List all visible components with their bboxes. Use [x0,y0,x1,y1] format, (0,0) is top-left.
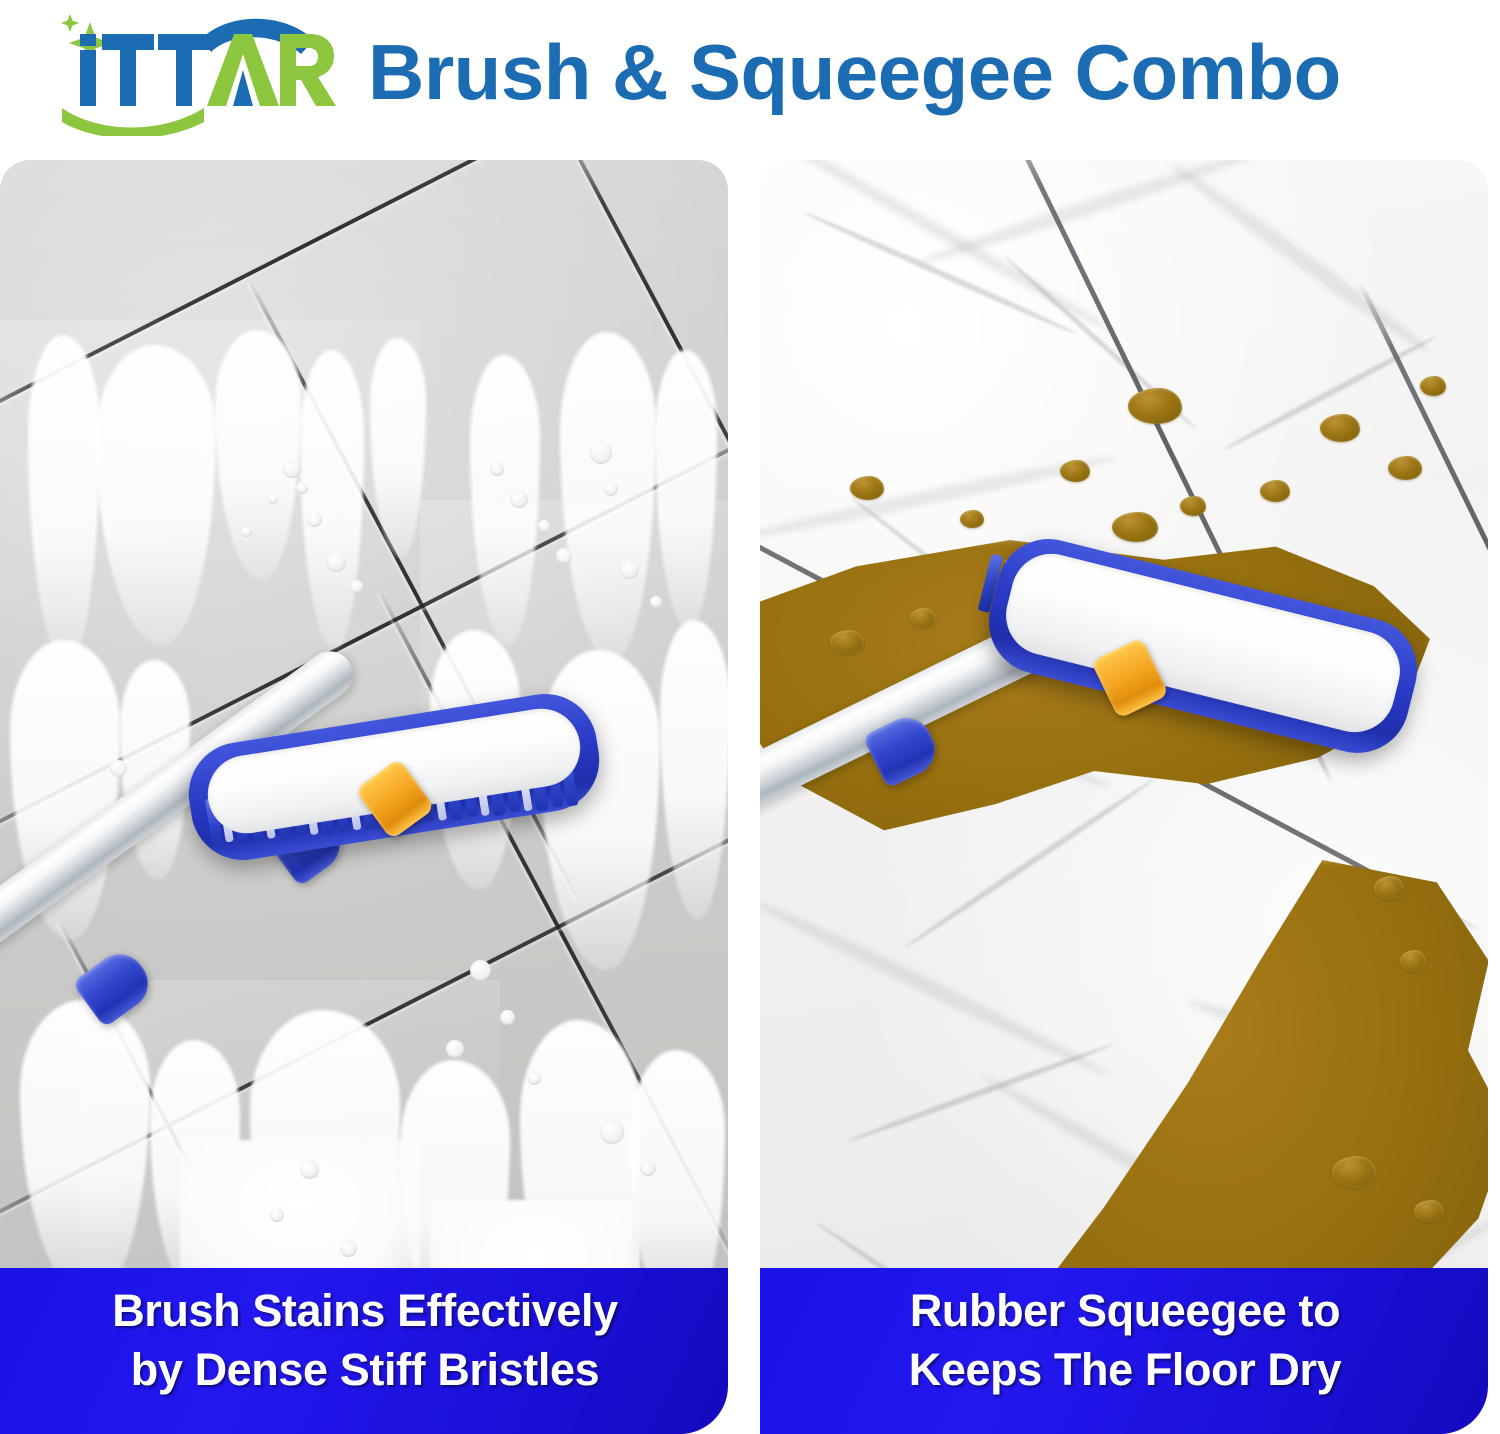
caption-right: Rubber Squeegee to Keeps The Floor Dry [760,1268,1488,1434]
caption-left-line-2: by Dense Stiff Bristles [22,1340,708,1399]
product-panel-left [0,160,728,1268]
product-panel-right [760,160,1488,1268]
photo-brush-on-soapy-tiles [0,160,728,1268]
brand-logo-svg [52,4,342,136]
header-bar: Brush & Squeegee Combo [0,0,1500,155]
caption-left: Brush Stains Effectively by Dense Stiff … [0,1268,728,1434]
caption-right-line-2: Keeps The Floor Dry [782,1340,1468,1399]
page-title: Brush & Squeegee Combo [368,20,1478,125]
sparkle-small-icon [61,14,79,32]
brand-swoosh-icon [62,108,204,136]
caption-right-line-1: Rubber Squeegee to [782,1281,1468,1340]
brand-logo [52,4,342,136]
caption-left-line-1: Brush Stains Effectively [22,1281,708,1340]
photo-squeegee-on-muddy-marble [760,160,1488,1268]
